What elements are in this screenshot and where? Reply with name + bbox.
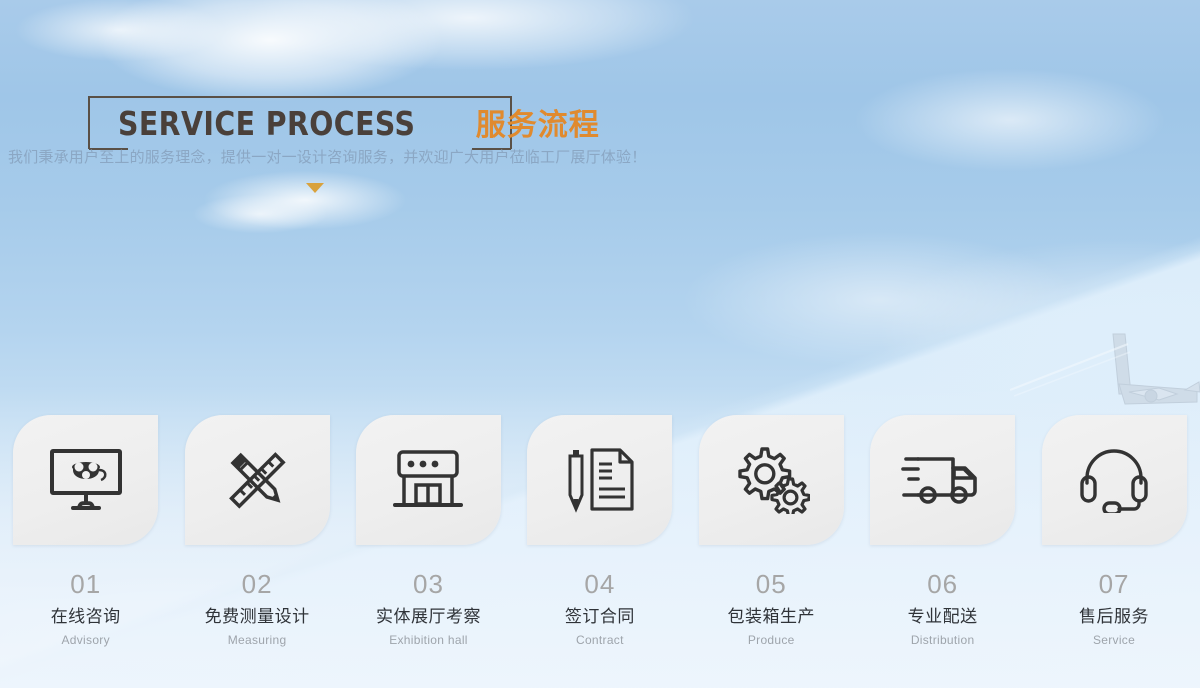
headset-icon: [1079, 447, 1149, 513]
airplane-icon: [1085, 332, 1200, 422]
step-name-cn: 签订合同: [565, 608, 635, 625]
step-name-en: Distribution: [911, 634, 975, 646]
step-name-cn: 包装箱生产: [728, 608, 816, 625]
step-number: 07: [1099, 571, 1130, 597]
step-name-en: Contract: [576, 634, 624, 646]
step-item[interactable]: 04 签订合同 Contract: [514, 415, 685, 646]
step-number: 05: [756, 571, 787, 597]
service-steps-list: 01 在线咨询 Advisory: [0, 415, 1200, 646]
step-icon-card[interactable]: [527, 415, 672, 545]
step-icon-card[interactable]: [699, 415, 844, 545]
step-icon-card[interactable]: [185, 415, 330, 545]
page-title: SERVICE PROCESS 服务流程: [118, 100, 600, 144]
step-icon-card[interactable]: [13, 415, 158, 545]
step-number: 02: [242, 571, 273, 597]
showroom-storefront-icon: [392, 449, 464, 511]
gears-icon: [732, 446, 810, 514]
step-icon-card[interactable]: [870, 415, 1015, 545]
step-name-en: Measuring: [228, 634, 287, 646]
step-icon-card[interactable]: [356, 415, 501, 545]
pen-document-icon: [564, 447, 636, 513]
step-name-en: Service: [1093, 634, 1135, 646]
step-name-cn: 免费测量设计: [205, 608, 310, 625]
step-number: 06: [927, 571, 958, 597]
step-item[interactable]: 02 免费测量设计 Measuring: [171, 415, 342, 646]
step-name-cn: 售后服务: [1079, 608, 1149, 625]
ruler-pencil-icon: [222, 445, 292, 515]
step-number: 04: [584, 571, 615, 597]
step-number: 01: [70, 571, 101, 597]
page-subtitle: 我们秉承用户至上的服务理念，提供一对一设计咨询服务，并欢迎广大用户莅临工厂展厅体…: [8, 146, 646, 167]
title-english: SERVICE PROCESS: [118, 104, 415, 143]
step-name-en: Produce: [748, 634, 795, 646]
title-chinese: 服务流程: [476, 100, 600, 144]
step-name-cn: 在线咨询: [51, 608, 121, 625]
service-process-banner: SERVICE PROCESS 服务流程 我们秉承用户至上的服务理念，提供一对一…: [0, 0, 1200, 688]
triangle-down-icon: [306, 183, 324, 193]
step-item[interactable]: 06 专业配送 Distribution: [857, 415, 1028, 646]
delivery-truck-icon: [901, 451, 985, 509]
step-number: 03: [413, 571, 444, 597]
step-name-en: Exhibition hall: [389, 634, 468, 646]
step-name-cn: 专业配送: [908, 608, 978, 625]
step-icon-card[interactable]: [1042, 415, 1187, 545]
contrail-icon: [1010, 338, 1200, 398]
step-name-en: Advisory: [61, 634, 109, 646]
step-item[interactable]: 05 包装箱生产 Produce: [686, 415, 857, 646]
step-name-cn: 实体展厅考察: [376, 608, 481, 625]
monitor-phone-icon: [49, 448, 123, 512]
step-item[interactable]: 07 售后服务 Service: [1028, 415, 1199, 646]
step-item[interactable]: 01 在线咨询 Advisory: [0, 415, 171, 646]
step-item[interactable]: 03 实体展厅考察 Exhibition hall: [343, 415, 514, 646]
